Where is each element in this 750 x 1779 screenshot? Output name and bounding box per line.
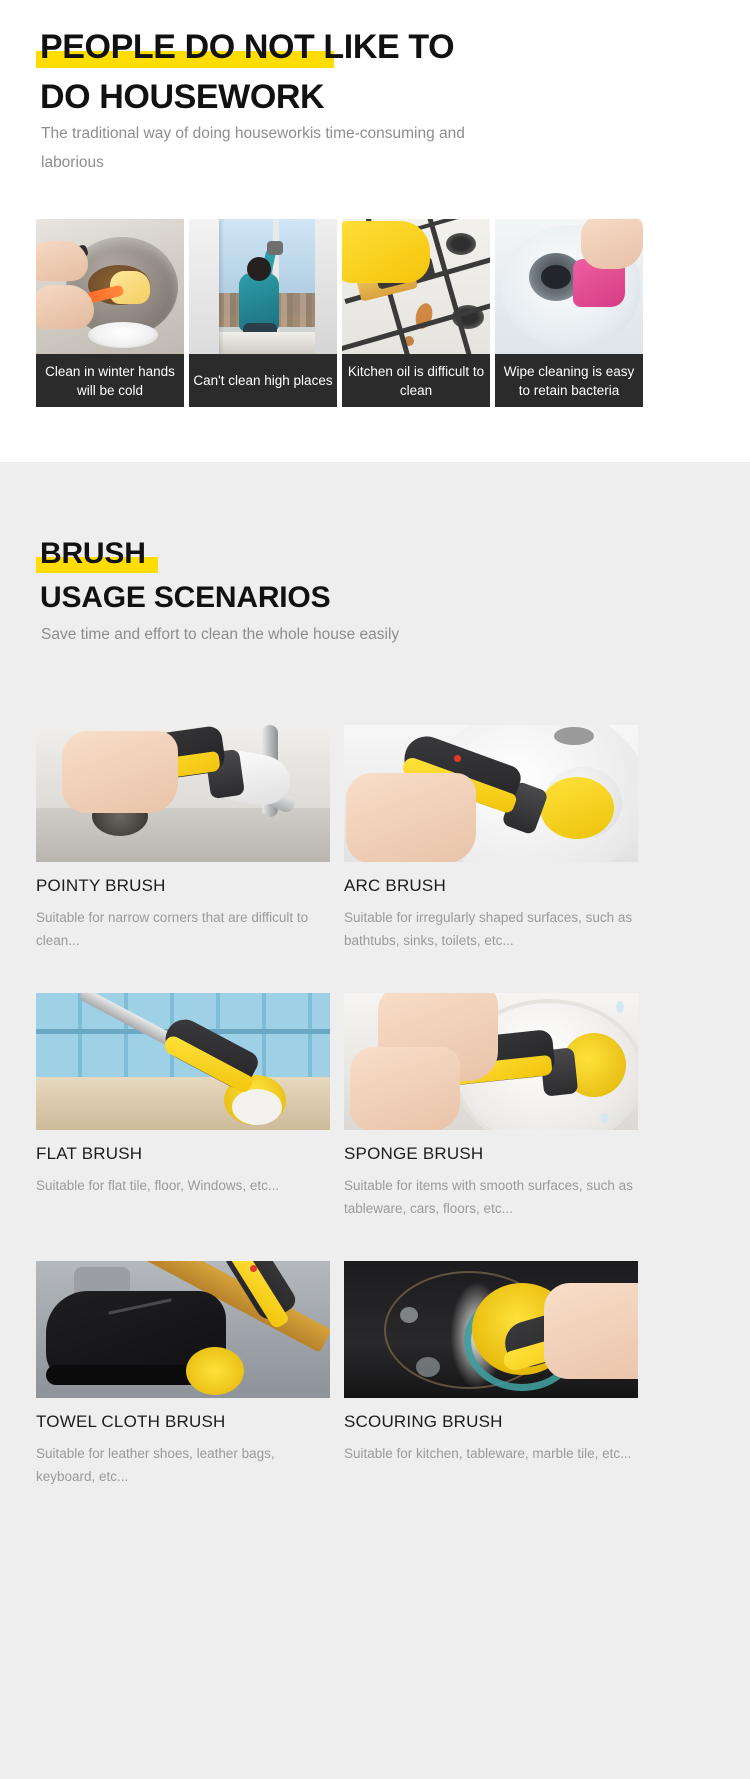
brush-card-grid: POINTY BRUSH Suitable for narrow corners…: [36, 725, 714, 1488]
hero-headline-line1-rest: TO: [399, 28, 454, 66]
flat-brush-photo: [36, 993, 330, 1130]
hero-headline-line1: PEOPLE DO NOT LIKE TO: [40, 22, 454, 72]
gas-stove-photo: [342, 219, 490, 354]
hero-headline-line1-highlighted: PEOPLE DO NOT LIKE: [40, 28, 399, 66]
brush-card[interactable]: FLAT BRUSH Suitable for flat tile, floor…: [36, 993, 330, 1220]
problem-caption: Clean in winter hands will be cold: [36, 354, 184, 407]
sponge-brush-photo: [344, 993, 638, 1130]
brush-card-desc: Suitable for leather shoes, leather bags…: [36, 1442, 330, 1488]
housework-problem-section: PEOPLE DO NOT LIKE TO DO HOUSEWORK The t…: [0, 0, 750, 462]
brush-card[interactable]: TOWEL CLOTH BRUSH Suitable for leather s…: [36, 1261, 330, 1488]
brush-card-desc: Suitable for irregularly shaped surfaces…: [344, 906, 638, 952]
problem-card: Clean in winter hands will be cold: [36, 219, 184, 407]
sink-drain-photo: [495, 219, 643, 354]
usage-headline-line2: USAGE SCENARIOS: [40, 576, 330, 620]
arc-brush-photo: [344, 725, 638, 862]
problem-caption: Wipe cleaning is easy to retain bacteria: [495, 354, 643, 407]
problem-photo-row: Clean in winter hands will be cold Can't…: [36, 219, 643, 407]
problem-card: Wipe cleaning is easy to retain bacteria: [495, 219, 643, 407]
brush-card-title: ARC BRUSH: [344, 876, 638, 896]
brush-card-title: TOWEL CLOTH BRUSH: [36, 1412, 330, 1432]
brush-card-desc: Suitable for kitchen, tableware, marble …: [344, 1442, 638, 1465]
brush-card-desc: Suitable for narrow corners that are dif…: [36, 906, 330, 952]
usage-headline: BRUSH USAGE SCENARIOS: [40, 532, 330, 620]
usage-headline-line1: BRUSH: [40, 532, 330, 576]
problem-card: Can't clean high places: [189, 219, 337, 407]
usage-subtitle: Save time and effort to clean the whole …: [41, 620, 441, 649]
brush-card[interactable]: ARC BRUSH Suitable for irregularly shape…: [344, 725, 638, 952]
brush-card-title: SPONGE BRUSH: [344, 1144, 638, 1164]
brush-card-title: SCOURING BRUSH: [344, 1412, 638, 1432]
window-cleaning-photo: [189, 219, 337, 354]
problem-caption: Can't clean high places: [189, 354, 337, 407]
towel-cloth-brush-photo: [36, 1261, 330, 1398]
brush-card[interactable]: SPONGE BRUSH Suitable for items with smo…: [344, 993, 638, 1220]
brush-card[interactable]: SCOURING BRUSH Suitable for kitchen, tab…: [344, 1261, 638, 1488]
pan-scrubbing-photo: [36, 219, 184, 354]
brush-card-desc: Suitable for items with smooth surfaces,…: [344, 1174, 638, 1220]
hero-subtitle: The traditional way of doing houseworkis…: [41, 119, 471, 177]
product-detail-page: PEOPLE DO NOT LIKE TO DO HOUSEWORK The t…: [0, 0, 750, 1779]
brush-card-desc: Suitable for flat tile, floor, Windows, …: [36, 1174, 330, 1197]
usage-scenarios-section: BRUSH USAGE SCENARIOS Save time and effo…: [0, 462, 750, 1779]
scouring-brush-photo: [344, 1261, 638, 1398]
brush-card-title: POINTY BRUSH: [36, 876, 330, 896]
problem-card: Kitchen oil is difficult to clean: [342, 219, 490, 407]
pointy-brush-photo: [36, 725, 330, 862]
hero-headline-line2: DO HOUSEWORK: [40, 72, 454, 122]
brush-card[interactable]: POINTY BRUSH Suitable for narrow corners…: [36, 725, 330, 952]
hero-headline: PEOPLE DO NOT LIKE TO DO HOUSEWORK: [40, 22, 454, 122]
brush-card-title: FLAT BRUSH: [36, 1144, 330, 1164]
problem-caption: Kitchen oil is difficult to clean: [342, 354, 490, 407]
